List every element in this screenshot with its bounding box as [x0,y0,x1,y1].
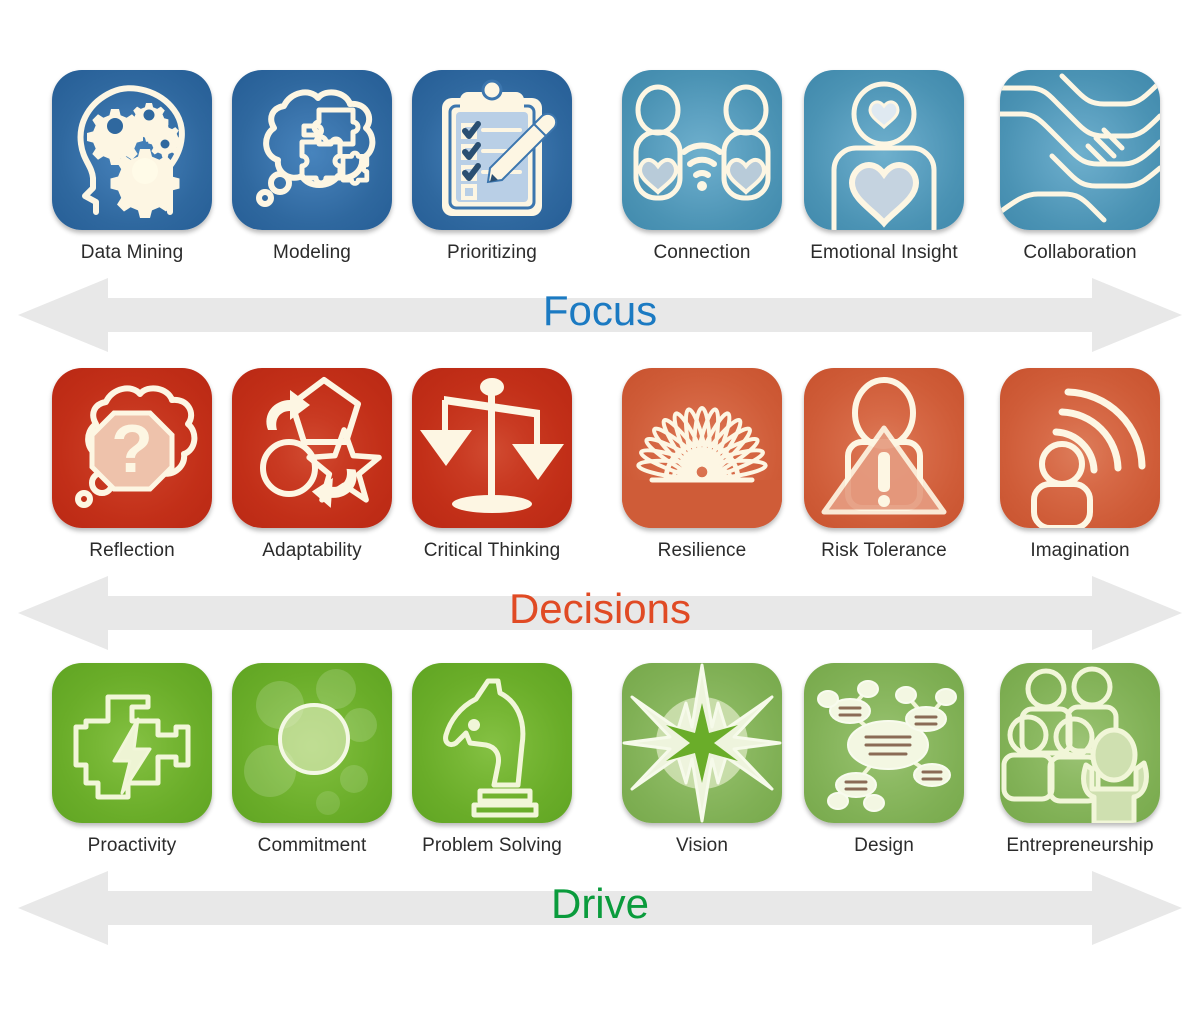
shapes-arrows-icon [232,368,392,528]
tile-risk-tolerance[interactable]: Risk Tolerance [798,368,970,562]
balance-scale-icon [412,368,572,528]
tile-label: Commitment [226,835,398,857]
spring-arch-icon [622,368,782,528]
tile-adaptability[interactable]: Adaptability [226,368,398,562]
svg-text:?: ? [111,411,153,487]
tile-row-drive: Proactivity [0,663,1200,863]
mind-map-icon [804,663,964,823]
tile-icon-box[interactable] [52,70,212,230]
head-gears-icon [52,70,212,230]
person-heart-icon [804,70,964,230]
tile-vision[interactable]: Vision [616,663,788,857]
tile-icon-box[interactable] [1000,368,1160,528]
tile-label: Design [798,835,970,857]
tile-icon-box[interactable] [622,368,782,528]
tile-label: Adaptability [226,540,398,562]
tile-connection[interactable]: Connection [616,70,788,264]
clasped-hands-icon [1000,70,1160,230]
tile-imagination[interactable]: Imagination [994,368,1166,562]
engine-bolt-icon [52,663,212,823]
tile-label: Collaboration [994,242,1166,264]
tile-prioritizing[interactable]: Prioritizing [406,70,578,264]
tile-collaboration[interactable]: Collaboration [994,70,1166,264]
tile-proactivity[interactable]: Proactivity [46,663,218,857]
tile-icon-box[interactable] [412,663,572,823]
tile-icon-box[interactable] [412,70,572,230]
tile-modeling[interactable]: Modeling [226,70,398,264]
tile-icon-box[interactable] [804,70,964,230]
thought-puzzle-icon [232,70,392,230]
tile-label: Risk Tolerance [798,540,970,562]
tile-emotional-insight[interactable]: Emotional Insight [798,70,970,264]
tile-commitment[interactable]: Commitment [226,663,398,857]
people-group-icon [1000,663,1160,823]
tile-icon-box[interactable] [412,368,572,528]
chess-knight-icon [412,663,572,823]
tile-label: Prioritizing [406,242,578,264]
tile-label: Resilience [616,540,788,562]
tile-label: Imagination [994,540,1166,562]
tile-row-decisions: ? Reflection [0,368,1200,568]
tile-icon-box[interactable] [804,663,964,823]
arrow-drive: Drive [0,869,1200,947]
tile-label: Connection [616,242,788,264]
tile-icon-box[interactable] [232,70,392,230]
tile-resilience[interactable]: Resilience [616,368,788,562]
tile-icon-box[interactable] [804,368,964,528]
tile-problem-solving[interactable]: Problem Solving [406,663,578,857]
tile-data-mining[interactable]: Data Mining [46,70,218,264]
two-people-wifi-icon [622,70,782,230]
tile-icon-box[interactable]: ? [52,368,212,528]
bubbles-circle-icon [232,663,392,823]
person-warning-icon [804,368,964,528]
tile-reflection[interactable]: ? Reflection [46,368,218,562]
band-drive: Proactivity [0,663,1200,947]
tile-icon-box[interactable] [622,70,782,230]
tile-label: Data Mining [46,242,218,264]
tile-icon-box[interactable] [52,663,212,823]
tile-critical-thinking[interactable]: Critical Thinking [406,368,578,562]
tile-label: Modeling [226,242,398,264]
tile-design[interactable]: Design [798,663,970,857]
infographic-board: Data Mining [0,0,1200,1016]
arrow-focus: Focus [0,276,1200,354]
compass-star-icon [622,663,782,823]
tile-icon-box[interactable] [1000,70,1160,230]
tile-label: Emotional Insight [798,242,970,264]
tile-icon-box[interactable] [232,368,392,528]
band-focus: Data Mining [0,70,1200,354]
tile-label: Vision [616,835,788,857]
tile-label: Reflection [46,540,218,562]
arrow-label: Focus [0,276,1200,354]
tile-label: Critical Thinking [406,540,578,562]
tile-entrepreneurship[interactable]: Entrepreneurship [994,663,1166,857]
tile-icon-box[interactable] [1000,663,1160,823]
clipboard-checklist-icon [412,70,572,230]
arrow-label: Drive [0,869,1200,947]
band-decisions: ? Reflection [0,368,1200,652]
tile-row-focus: Data Mining [0,70,1200,270]
tile-icon-box[interactable] [232,663,392,823]
tile-icon-box[interactable] [622,663,782,823]
arrow-decisions: Decisions [0,574,1200,652]
tile-label: Problem Solving [406,835,578,857]
tile-label: Proactivity [46,835,218,857]
person-signal-icon [1000,368,1160,528]
arrow-label: Decisions [0,574,1200,652]
tile-label: Entrepreneurship [994,835,1166,857]
thought-question-icon: ? [52,368,212,528]
